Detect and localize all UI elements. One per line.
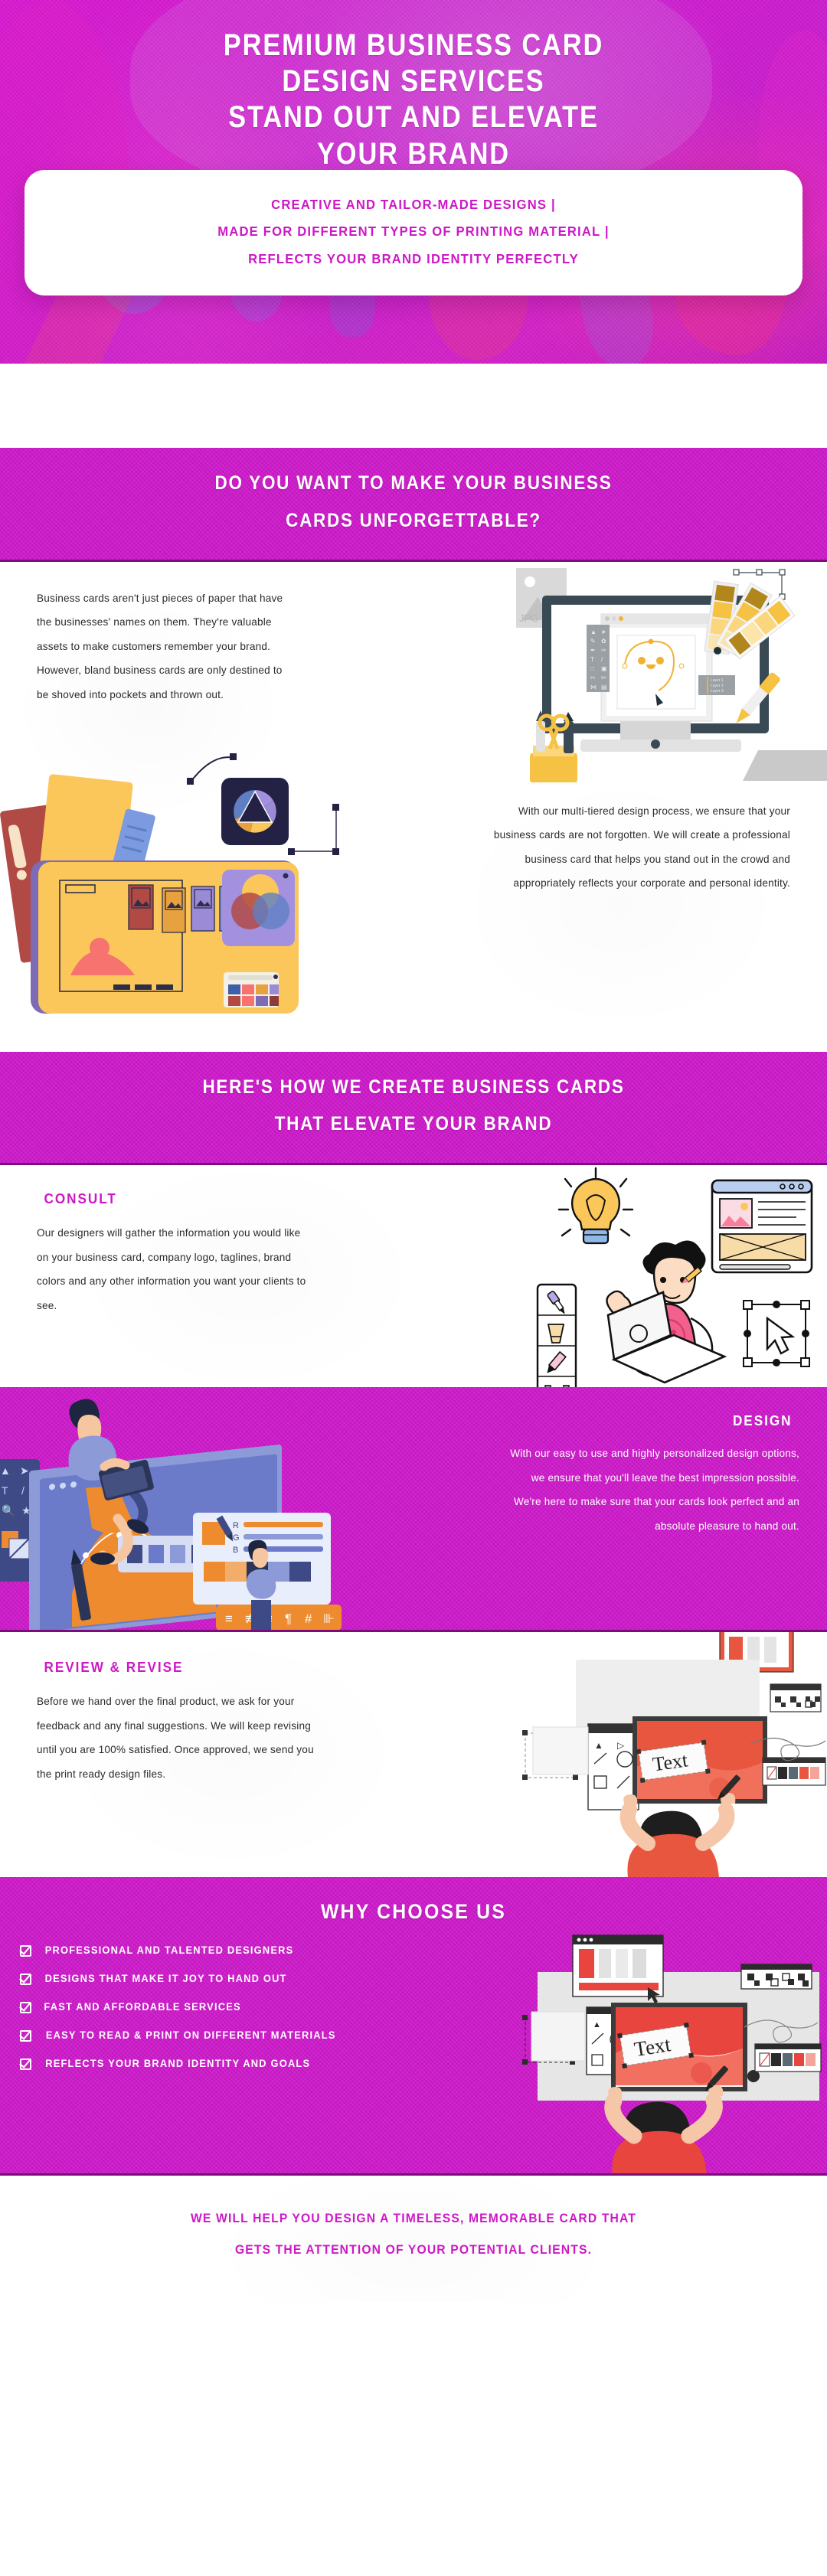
- svg-text:▲: ▲: [0, 1464, 11, 1477]
- svg-text:🔍: 🔍: [2, 1503, 15, 1517]
- svg-text:➤: ➤: [601, 628, 606, 635]
- svg-text:¶: ¶: [285, 1611, 292, 1626]
- check-icon: [20, 1944, 33, 1957]
- svg-text:/: /: [21, 1484, 25, 1497]
- svg-text:✎: ✎: [590, 638, 596, 645]
- svg-text:▲: ▲: [594, 1740, 603, 1751]
- check-icon: [20, 1972, 33, 1985]
- svg-text:Layer 2: Layer 2: [711, 684, 724, 688]
- footer-text: WE WILL HELP YOU DESIGN A TIMELESS, MEMO…: [21, 2176, 806, 2267]
- svg-text:Layer 1: Layer 1: [711, 678, 724, 683]
- band-unforgettable: DO YOU WANT TO MAKE YOUR BUSINESS CARDS …: [0, 448, 827, 562]
- why-item-label: PROFESSIONAL AND TALENTED DESIGNERS: [45, 1944, 294, 1956]
- check-icon: [20, 2000, 33, 2013]
- review-body: Before we hand over the final product, w…: [37, 1690, 328, 1786]
- hero-title-line-4: YOUR BRAND: [58, 136, 770, 172]
- why-item-label: DESIGNS THAT MAKE IT JOY TO HAND OUT: [45, 1973, 287, 1984]
- footer-line-1: WE WILL HELP YOU DESIGN A TIMELESS, MEMO…: [191, 2212, 636, 2225]
- svg-text:R: R: [233, 1521, 239, 1530]
- svg-text:▣: ▣: [601, 665, 607, 672]
- svg-text:✄: ✄: [601, 674, 606, 681]
- list-item: EASY TO READ & PRINT ON DIFFERENT MATERI…: [20, 2029, 827, 2042]
- band-process-heading: HERE'S HOW WE CREATE BUSINESS CARDS THAT…: [41, 1052, 786, 1164]
- svg-text:⊪: ⊪: [323, 1611, 335, 1626]
- band-process-line-1: HERE'S HOW WE CREATE BUSINESS CARDS: [202, 1076, 624, 1098]
- why-item-label: FAST AND AFFORDABLE SERVICES: [44, 2001, 240, 2013]
- check-icon: [20, 2029, 33, 2042]
- svg-text:≡: ≡: [225, 1611, 233, 1626]
- consult-body: Our designers will gather the informatio…: [37, 1221, 309, 1317]
- design-illustration: ▲➤ T/ 🔍★: [0, 1387, 348, 1632]
- design-monitor-illustration: JPG: [490, 562, 827, 792]
- svg-text:#: #: [305, 1611, 312, 1626]
- hero-subtitle-spacer: [0, 364, 827, 448]
- svg-text:➤: ➤: [20, 1464, 29, 1477]
- review-label: REVIEW & REVISE: [44, 1660, 321, 1676]
- unforgettable-paragraph-left: Business cards aren't just pieces of pap…: [37, 586, 289, 707]
- band-unforgettable-line-1: DO YOU WANT TO MAKE YOUR BUSINESS: [215, 472, 613, 494]
- hero-title-line-1: PREMIUM BUSINESS CARD: [58, 28, 770, 64]
- svg-text:▤: ▤: [601, 684, 607, 691]
- review-text-block: REVIEW & REVISE Before we hand over the …: [37, 1660, 328, 1786]
- svg-text:▲: ▲: [590, 628, 597, 635]
- why-item-label: REFLECTS YOUR BRAND IDENTITY AND GOALS: [45, 2058, 310, 2069]
- hero-title: PREMIUM BUSINESS CARD DESIGN SERVICES ST…: [58, 0, 770, 172]
- svg-text:Layer 3: Layer 3: [711, 689, 724, 694]
- footer-line-2: GETS THE ATTENTION OF YOUR POTENTIAL CLI…: [235, 2243, 592, 2257]
- hero-subtitle-card: CREATIVE AND TAILOR-MADE DESIGNS | MADE …: [25, 170, 802, 295]
- footer-cta: WE WILL HELP YOU DESIGN A TIMELESS, MEMO…: [0, 2176, 827, 2302]
- hero-subtitle-line-2: MADE FOR DIFFERENT TYPES OF PRINTING MAT…: [73, 218, 753, 245]
- svg-text:□: □: [590, 665, 594, 672]
- section-unforgettable-body: JPG: [0, 562, 827, 1052]
- section-why-choose-us: WHY CHOOSE US PROFESSIONAL AND TALENTED …: [0, 1877, 827, 2176]
- step-review: REVIEW & REVISE Before we hand over the …: [0, 1632, 827, 1877]
- hero-title-line-3: STAND OUT AND ELEVATE: [58, 100, 770, 135]
- hero-subtitle-line-1: CREATIVE AND TAILOR-MADE DESIGNS |: [73, 191, 753, 218]
- svg-text:G: G: [233, 1533, 240, 1543]
- svg-text:✑: ✑: [601, 647, 606, 654]
- step-consult: CONSULT Our designers will gather the in…: [0, 1165, 827, 1387]
- svg-text:▷: ▷: [617, 1740, 625, 1751]
- step-design: DESIGN With our easy to use and highly p…: [0, 1387, 827, 1632]
- infographic-page: PREMIUM BUSINESS CARD DESIGN SERVICES ST…: [0, 0, 827, 2302]
- band-process: HERE'S HOW WE CREATE BUSINESS CARDS THAT…: [0, 1052, 827, 1166]
- unforgettable-paragraph-right: With our multi-tiered design process, we…: [484, 799, 790, 896]
- band-process-line-2: THAT ELEVATE YOUR BRAND: [275, 1113, 553, 1135]
- design-body: With our easy to use and highly personal…: [508, 1441, 799, 1538]
- design-text-block: DESIGN With our easy to use and highly p…: [508, 1413, 799, 1538]
- band-unforgettable-heading: DO YOU WANT TO MAKE YOUR BUSINESS CARDS …: [41, 448, 786, 560]
- svg-text:✒: ✒: [590, 647, 596, 654]
- consult-label: CONSULT: [44, 1191, 321, 1207]
- svg-text:✂: ✂: [590, 674, 596, 681]
- hero-title-line-2: DESIGN SERVICES: [58, 64, 770, 100]
- review-illustration: ▲▷ Text: [490, 1632, 827, 1877]
- svg-text:⋈: ⋈: [590, 684, 597, 691]
- list-item: FAST AND AFFORDABLE SERVICES: [20, 2000, 827, 2013]
- list-item: REFLECTS YOUR BRAND IDENTITY AND GOALS: [20, 2057, 827, 2070]
- hero-banner: PREMIUM BUSINESS CARD DESIGN SERVICES ST…: [0, 0, 827, 364]
- svg-text:T: T: [590, 656, 594, 663]
- why-item-label: EASY TO READ & PRINT ON DIFFERENT MATERI…: [46, 2029, 336, 2041]
- list-item: DESIGNS THAT MAKE IT JOY TO HAND OUT: [20, 1972, 827, 1985]
- design-label: DESIGN: [516, 1413, 793, 1429]
- list-item: PROFESSIONAL AND TALENTED DESIGNERS: [20, 1944, 827, 1957]
- svg-text:B: B: [233, 1546, 238, 1555]
- band-unforgettable-line-2: CARDS UNFORGETTABLE?: [286, 510, 541, 531]
- why-choose-us-heading: WHY CHOOSE US: [33, 1877, 794, 1944]
- consult-illustration: [498, 1165, 827, 1387]
- why-choose-us-list: PROFESSIONAL AND TALENTED DESIGNERS DESI…: [0, 1944, 827, 2070]
- design-tablet-illustration: [0, 753, 377, 1014]
- check-icon: [20, 2057, 33, 2070]
- consult-text-block: CONSULT Our designers will gather the in…: [37, 1191, 328, 1317]
- svg-text:✿: ✿: [601, 638, 606, 645]
- hero-subtitle-line-3: REFLECTS YOUR BRAND IDENTITY PERFECTLY: [73, 246, 753, 273]
- svg-text:JPG: JPG: [519, 612, 538, 624]
- svg-text:T: T: [2, 1484, 8, 1497]
